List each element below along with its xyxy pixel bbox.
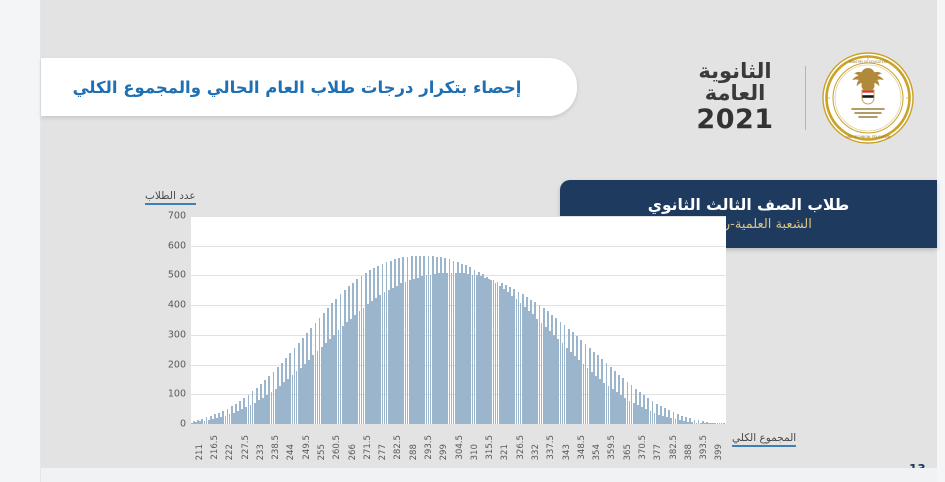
x-axis-tick: 393.5: [699, 435, 709, 460]
x-axis-tick: 299: [439, 444, 449, 460]
ministry-of-education-seal-icon: MINISTRY OF EDUCATION AND TECHNICAL EDUC…: [822, 52, 914, 144]
x-axis-tick: 266: [348, 444, 358, 460]
page-title: إحصاء بتكرار درجات طلاب العام الحالي وال…: [73, 78, 546, 97]
x-axis-tick: 354: [592, 444, 602, 460]
x-axis-tick: 238.5: [271, 435, 281, 460]
x-axis-title: المجموع الكلي: [732, 432, 796, 447]
thanaweya-logo-line2: العامة: [681, 83, 789, 105]
x-axis-tick: 244: [286, 444, 296, 460]
presentation-slide: إحصاء بتكرار درجات طلاب العام الحالي وال…: [41, 0, 937, 470]
x-axis-tick: 315.5: [485, 435, 495, 460]
thanaweya-logo-line1: الثانوية: [681, 61, 789, 83]
x-axis-tick: 337.5: [546, 435, 556, 460]
svg-text:MINISTRY OF EDUCATION: MINISTRY OF EDUCATION: [849, 60, 889, 64]
x-axis-tick: 271.5: [363, 435, 373, 460]
y-axis-tick: 400: [146, 300, 186, 311]
header-logos: الثانوية العامة 2021: [681, 46, 931, 150]
x-axis-tick: 255: [317, 444, 327, 460]
y-axis-tick: 300: [146, 329, 186, 340]
thanaweya-logo-year: 2021: [681, 105, 789, 135]
right-margin-strip: [937, 0, 945, 482]
x-axis-tick: 310: [470, 444, 480, 460]
chart-bars: [191, 216, 726, 424]
x-axis-tick: 321: [500, 444, 510, 460]
logo-divider: [805, 66, 806, 130]
x-axis-tick: 227.5: [241, 435, 251, 460]
y-axis-tick: 600: [146, 240, 186, 251]
x-axis-tick: 388: [684, 444, 694, 460]
x-axis-tick: 399: [714, 444, 724, 460]
chart-plot-area: [191, 216, 726, 424]
x-axis-tick: 332: [531, 444, 541, 460]
y-axis-tick: 700: [146, 211, 186, 222]
x-axis-tick: 222: [225, 444, 235, 460]
y-axis-title: عدد الطلاب: [145, 190, 196, 205]
x-axis-tick: 377: [653, 444, 663, 460]
x-axis-tick: 233: [256, 444, 266, 460]
x-axis-tick: 293.5: [424, 435, 434, 460]
bar: [723, 423, 725, 424]
x-axis-tick: 359.5: [607, 435, 617, 460]
x-axis-tick: 382.5: [669, 435, 679, 460]
y-axis-tick: 500: [146, 270, 186, 281]
x-axis-tick: 326.5: [516, 435, 526, 460]
slide-footer-strip: [41, 468, 937, 482]
x-axis-tick: 211: [195, 444, 205, 460]
y-axis-tick: 100: [146, 389, 186, 400]
svg-text:AND TECHNICAL EDUCATION: AND TECHNICAL EDUCATION: [846, 135, 891, 139]
x-axis-tick: 343: [562, 444, 572, 460]
x-axis-tick: 365: [623, 444, 633, 460]
slide-title-banner: إحصاء بتكرار درجات طلاب العام الحالي وال…: [41, 58, 577, 116]
thanaweya-amma-logo: الثانوية العامة 2021: [681, 61, 789, 134]
x-axis-tick: 260.5: [332, 435, 342, 460]
x-axis-tick: 277: [378, 444, 388, 460]
x-axis-tick: 216.5: [210, 435, 220, 460]
x-axis-tick: 348.5: [577, 435, 587, 460]
x-axis-tick: 249.5: [302, 435, 312, 460]
x-axis-tick: 370.5: [638, 435, 648, 460]
x-axis-tick: 288: [409, 444, 419, 460]
left-margin-strip: [0, 0, 41, 482]
x-axis-tick: 304.5: [455, 435, 465, 460]
histogram-chart: عدد الطلاب المجموع الكلي 010020030040050…: [101, 190, 801, 460]
x-axis-tick-labels: 211216.5222227.5233238.5244249.5255260.5…: [191, 426, 726, 460]
x-axis-tick: 282.5: [393, 435, 403, 460]
screenshot-root: إحصاء بتكرار درجات طلاب العام الحالي وال…: [0, 0, 945, 482]
gridline: [191, 424, 726, 425]
y-axis-tick: 0: [146, 419, 186, 430]
y-axis-tick: 200: [146, 359, 186, 370]
